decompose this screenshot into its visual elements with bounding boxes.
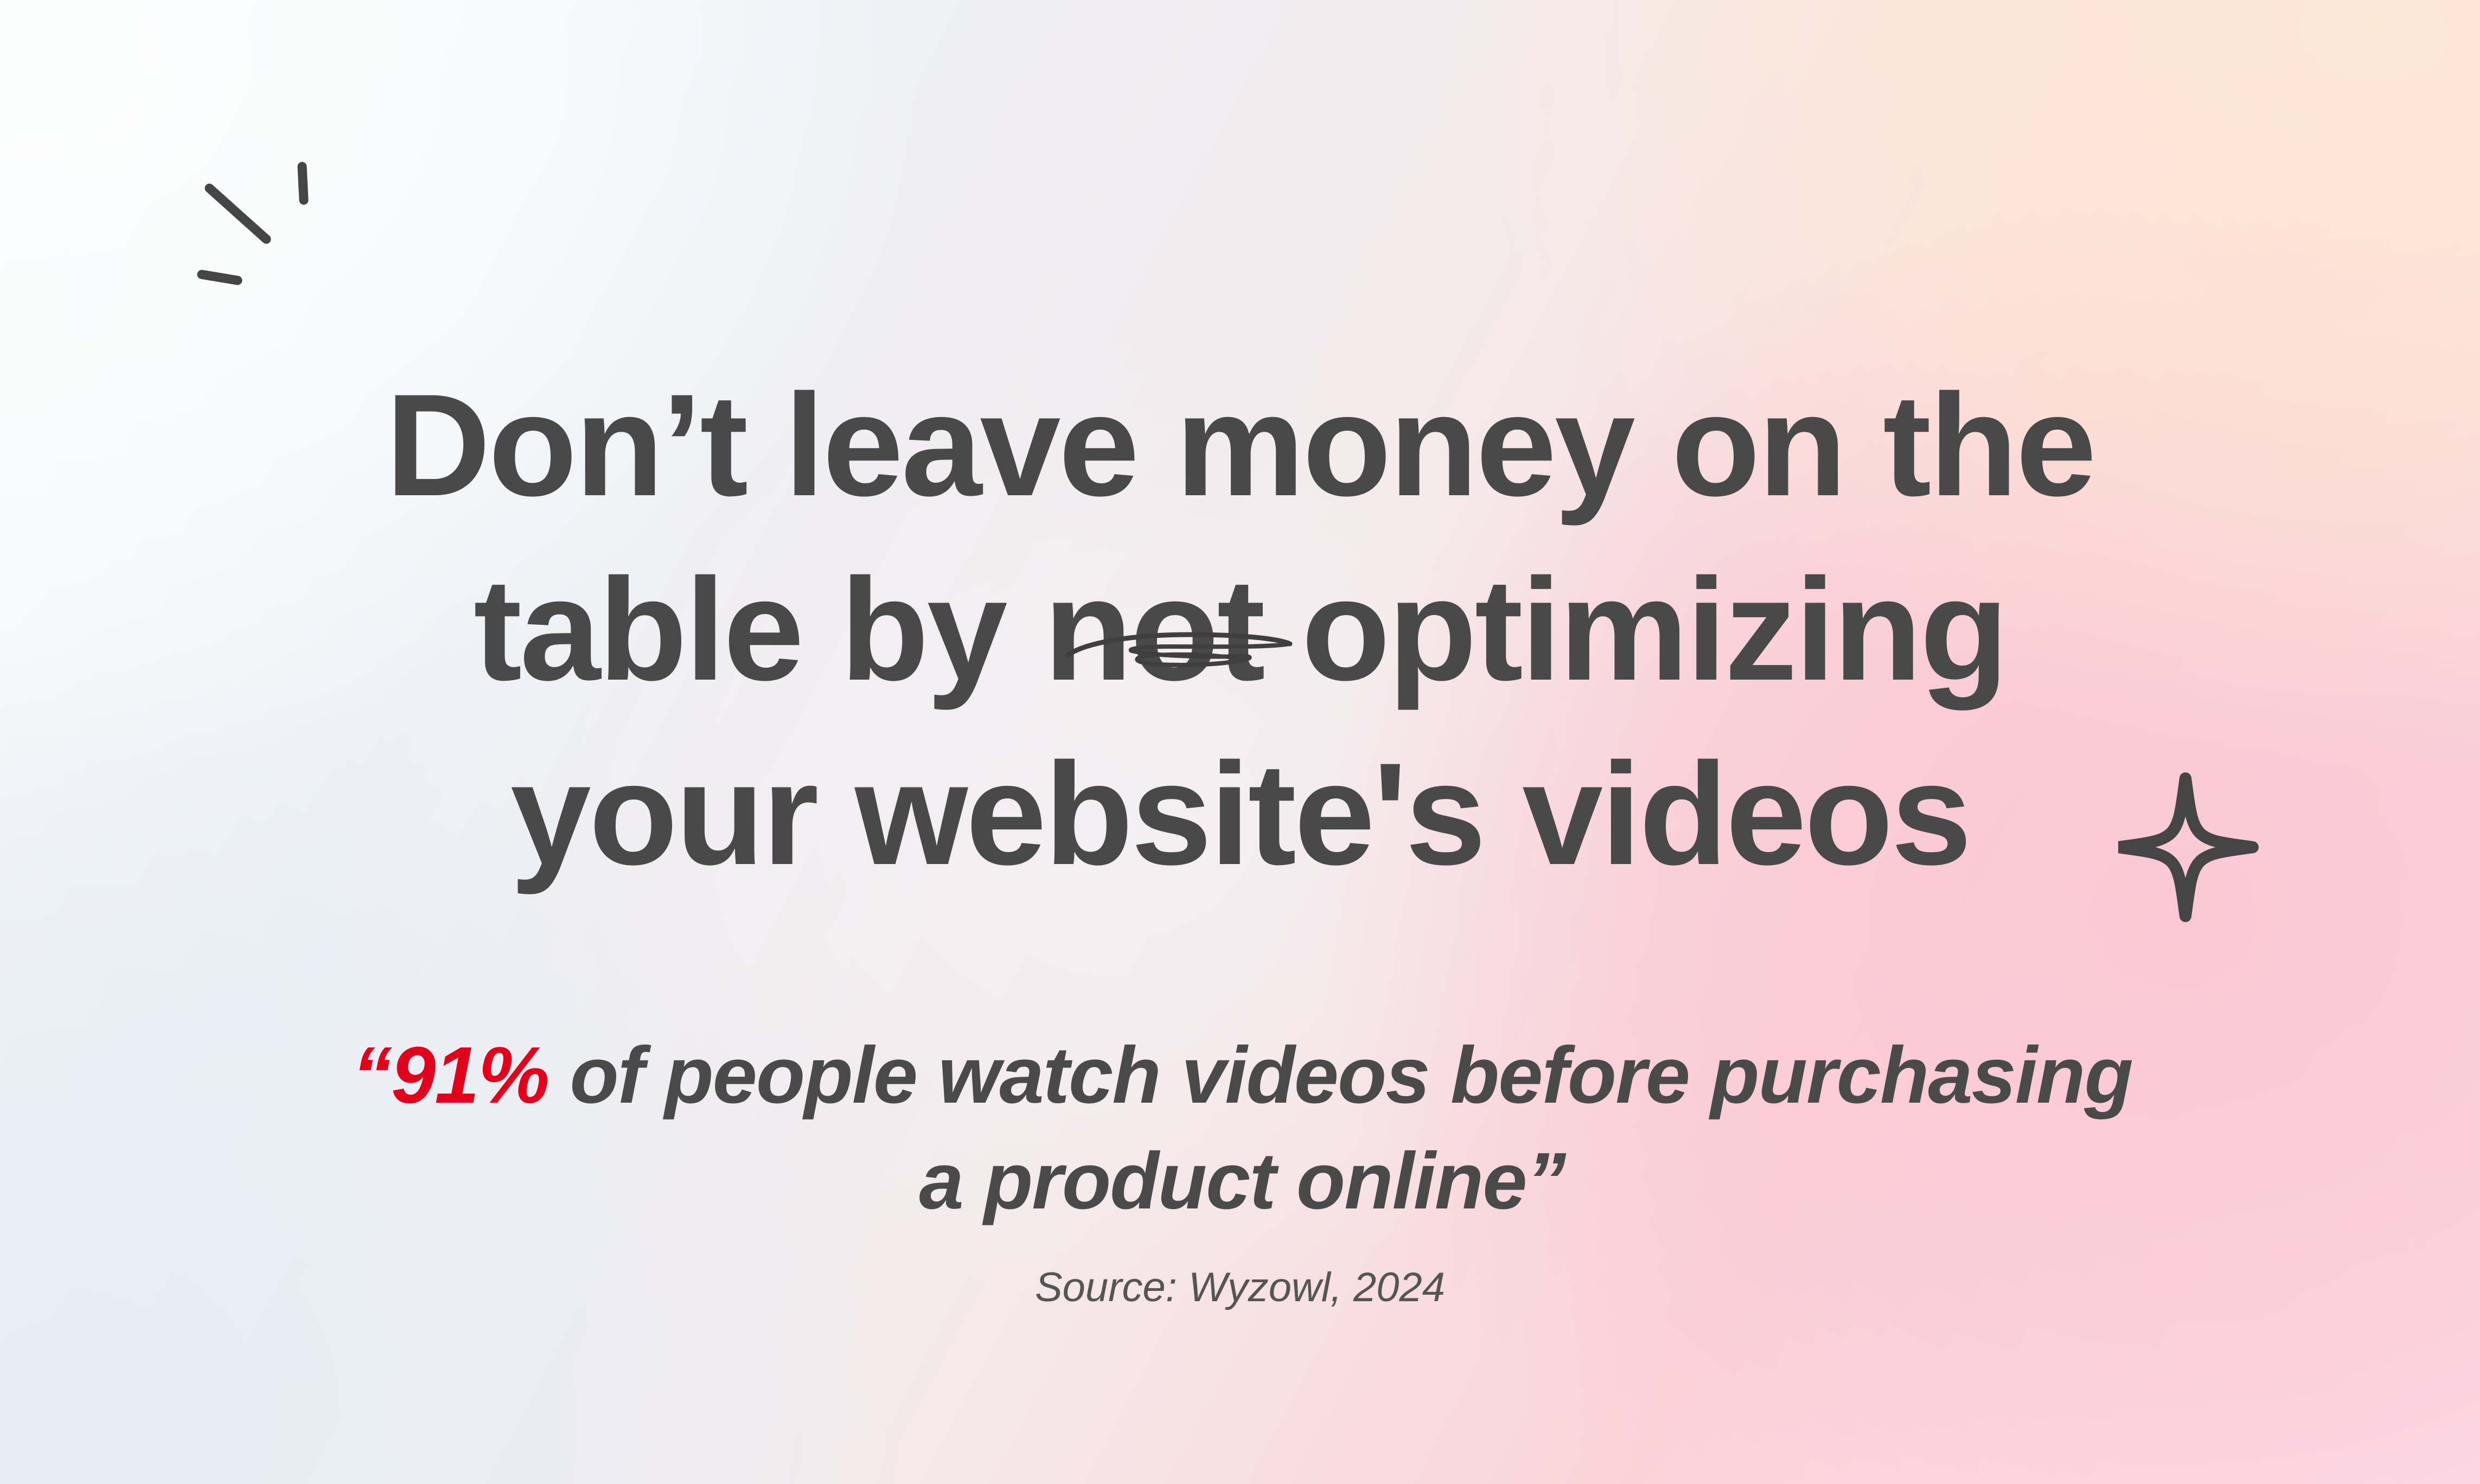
open-quote-mark: “ bbox=[352, 1031, 391, 1120]
stat-quote-line-2: a product online” bbox=[130, 1128, 2354, 1234]
stat-quote-line-1-rest: of people watch videos before purchasing bbox=[548, 1031, 2132, 1120]
headline-line-3: your website's videos bbox=[0, 721, 2480, 906]
four-point-sparkle-icon bbox=[2118, 762, 2292, 936]
percent-value: 91% bbox=[391, 1031, 548, 1120]
slide-canvas: Don’t leave money on the table by not op… bbox=[0, 0, 2480, 1484]
scribble-underline-icon bbox=[1050, 613, 1321, 678]
spark-lines-decoration bbox=[157, 138, 331, 312]
stat-quote-line-1: “91% of people watch videos before purch… bbox=[130, 1022, 2354, 1128]
stat-quote: “91% of people watch videos before purch… bbox=[130, 1022, 2354, 1234]
stat-percent: “91% bbox=[352, 1031, 548, 1120]
headline-line-1: Don’t leave money on the bbox=[0, 353, 2480, 537]
source-attribution: Source: Wyzowl, 2024 bbox=[0, 1264, 2480, 1311]
